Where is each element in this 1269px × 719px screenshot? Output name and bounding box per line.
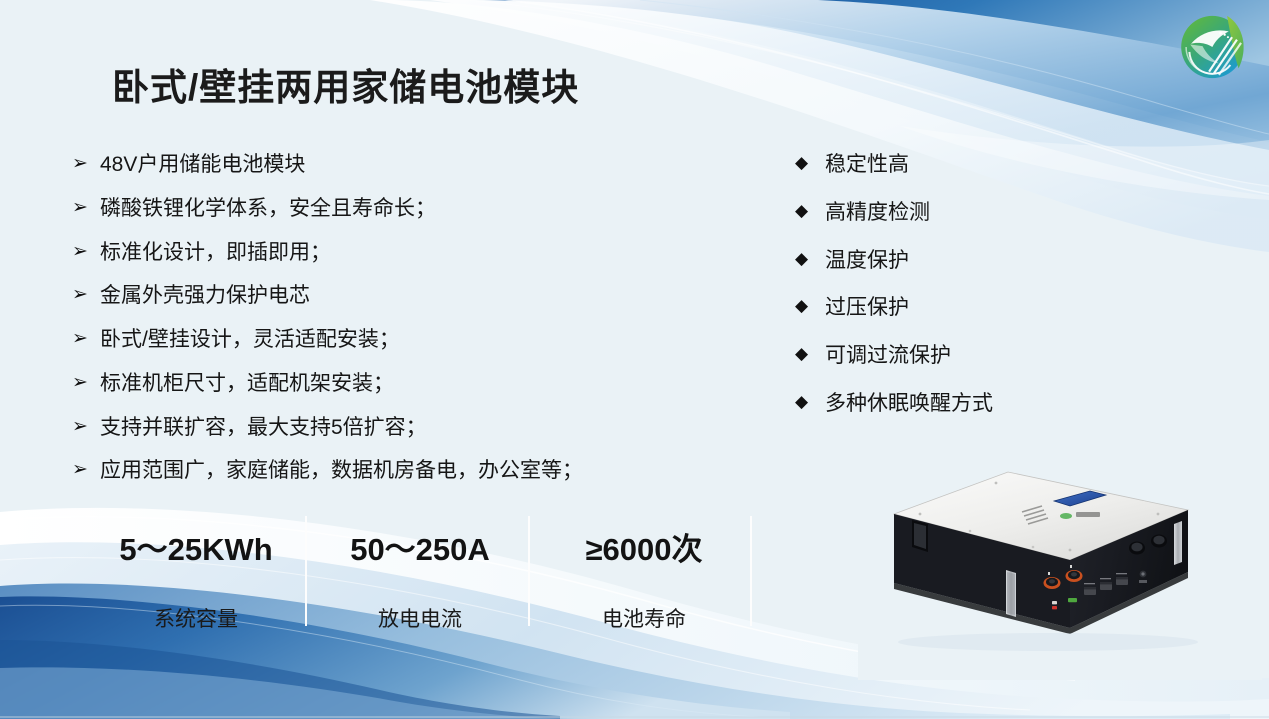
list-item: ◆ 可调过流保护 bbox=[795, 343, 1095, 369]
page-title: 卧式/壁挂两用家储电池模块 bbox=[112, 57, 579, 111]
key-specs-strip: 5～25KWh 系统容量 50～250A 放电电流 ≥6000次 电池寿命 bbox=[84, 512, 756, 630]
list-item-label: 标准化设计，即插即用； bbox=[100, 240, 331, 266]
company-logo bbox=[1173, 6, 1255, 88]
diamond-bullet-icon: ◆ bbox=[795, 248, 825, 269]
list-item-label: 标准机柜尺寸，适配机架安装； bbox=[100, 371, 394, 397]
spec-capacity: 5～25KWh 系统容量 bbox=[84, 512, 308, 630]
arrow-bullet-icon: ➢ bbox=[72, 152, 100, 176]
list-item: ➢ 卧式/壁挂设计，灵活适配安装； bbox=[72, 327, 732, 353]
slide-canvas: 卧式/壁挂两用家储电池模块 ➢ 48V户用储能电池模块 ➢ 磷酸铁锂化学体系，安… bbox=[0, 0, 1269, 719]
features-right-column: ◆ 稳定性高 ◆ 高精度检测 ◆ 温度保护 ◆ 过压保护 ◆ 可调过流保护 ◆ … bbox=[795, 152, 1095, 439]
list-item: ◆ 过压保护 bbox=[795, 295, 1095, 321]
arrow-bullet-icon: ➢ bbox=[72, 240, 100, 264]
diamond-bullet-icon: ◆ bbox=[795, 295, 825, 316]
list-item-label: 金属外壳强力保护电芯 bbox=[100, 283, 310, 309]
product-image-battery-module bbox=[858, 452, 1262, 680]
list-item-label: 48V户用储能电池模块 bbox=[100, 152, 305, 178]
list-item-label: 磷酸铁锂化学体系，安全且寿命长； bbox=[100, 196, 436, 222]
list-item: ◆ 稳定性高 bbox=[795, 152, 1095, 178]
list-item-label: 应用范围广，家庭储能，数据机房备电，办公室等； bbox=[100, 458, 583, 484]
arrow-bullet-icon: ➢ bbox=[72, 327, 100, 351]
spec-cycle-life: ≥6000次 电池寿命 bbox=[532, 512, 756, 630]
diamond-bullet-icon: ◆ bbox=[795, 200, 825, 221]
list-item: ➢ 应用范围广，家庭储能，数据机房备电，办公室等； bbox=[72, 458, 732, 484]
arrow-bullet-icon: ➢ bbox=[72, 371, 100, 395]
list-item-label: 支持并联扩容，最大支持5倍扩容； bbox=[100, 415, 427, 441]
list-item-label: 温度保护 bbox=[825, 248, 909, 274]
spec-label: 电池寿命 bbox=[602, 603, 686, 633]
diamond-bullet-icon: ◆ bbox=[795, 343, 825, 364]
arrow-bullet-icon: ➢ bbox=[72, 196, 100, 220]
arrow-bullet-icon: ➢ bbox=[72, 458, 100, 482]
list-item-label: 过压保护 bbox=[825, 295, 909, 321]
diamond-bullet-icon: ◆ bbox=[795, 152, 825, 173]
spec-value: 50～250A bbox=[350, 524, 490, 569]
list-item: ➢ 48V户用储能电池模块 bbox=[72, 152, 732, 178]
list-item-label: 卧式/壁挂设计，灵活适配安装； bbox=[100, 327, 400, 353]
list-item: ➢ 磷酸铁锂化学体系，安全且寿命长； bbox=[72, 196, 732, 222]
list-item: ➢ 金属外壳强力保护电芯 bbox=[72, 283, 732, 309]
list-item-label: 可调过流保护 bbox=[825, 343, 951, 369]
diamond-bullet-icon: ◆ bbox=[795, 391, 825, 412]
list-item: ➢ 标准机柜尺寸，适配机架安装； bbox=[72, 371, 732, 397]
list-item-label: 多种休眠唤醒方式 bbox=[825, 391, 993, 417]
list-item: ◆ 高精度检测 bbox=[795, 200, 1095, 226]
list-item: ◆ 温度保护 bbox=[795, 248, 1095, 274]
arrow-bullet-icon: ➢ bbox=[72, 283, 100, 307]
list-item: ◆ 多种休眠唤醒方式 bbox=[795, 391, 1095, 417]
spec-value: ≥6000次 bbox=[586, 524, 703, 569]
features-left-column: ➢ 48V户用储能电池模块 ➢ 磷酸铁锂化学体系，安全且寿命长； ➢ 标准化设计… bbox=[72, 152, 732, 502]
spec-value: 5～25KWh bbox=[119, 524, 272, 569]
list-item: ➢ 支持并联扩容，最大支持5倍扩容； bbox=[72, 415, 732, 441]
spec-discharge-current: 50～250A 放电电流 bbox=[308, 512, 532, 630]
spec-label: 系统容量 bbox=[154, 603, 238, 633]
list-item-label: 高精度检测 bbox=[825, 200, 930, 226]
list-item: ➢ 标准化设计，即插即用； bbox=[72, 240, 732, 266]
spec-label: 放电电流 bbox=[378, 603, 462, 633]
arrow-bullet-icon: ➢ bbox=[72, 415, 100, 439]
list-item-label: 稳定性高 bbox=[825, 152, 909, 178]
